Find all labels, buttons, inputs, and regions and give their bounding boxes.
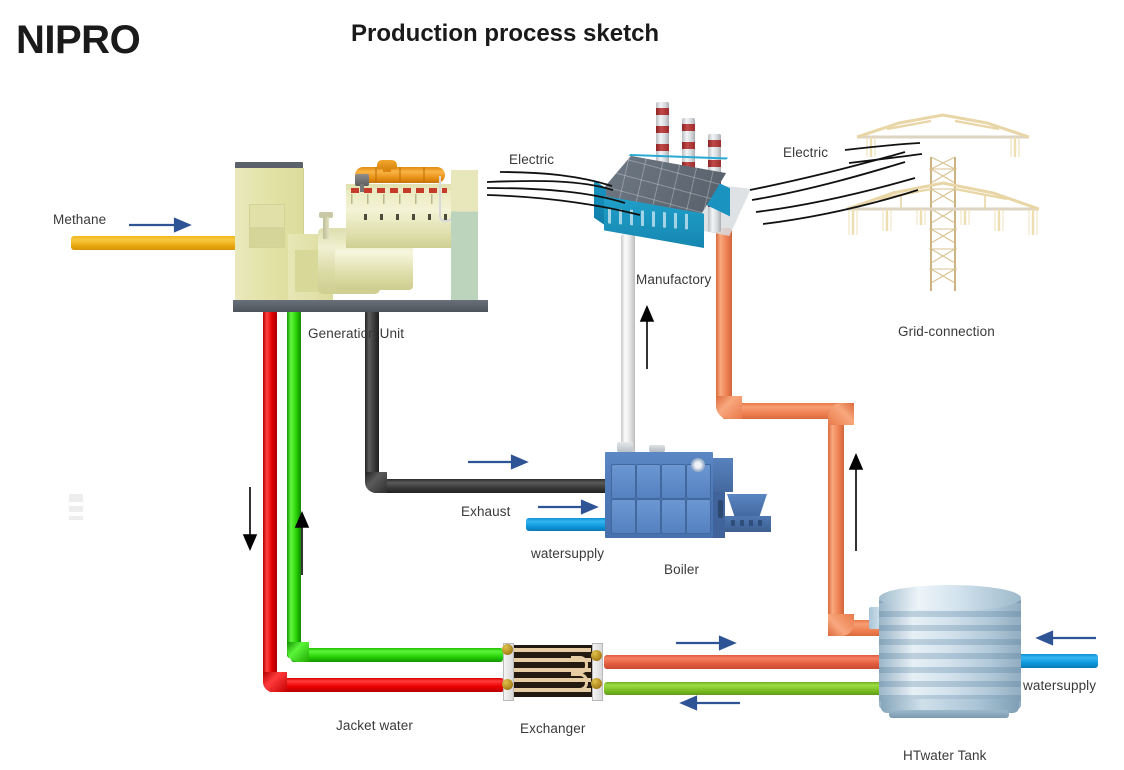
jacket-cold-pipe-vertical [287,310,301,658]
boiler-unit[interactable] [605,448,770,542]
ht-water-tank[interactable] [879,585,1021,721]
generation-unit-sensor-stem [360,184,364,192]
condensate-pipe-elbow-mid [828,403,854,425]
boiler-panel [636,499,661,534]
hot-water-flow-arrow [676,636,734,650]
jacket-hot-pipe-horizontal [268,678,504,692]
boiler-watersupply-flow-arrow [538,500,596,514]
label-exhaust: Exhaust [461,504,510,519]
boiler-vent-outlet [649,445,665,452]
steam-pipe [621,234,635,454]
generation-unit-cabinet-panel [249,204,285,248]
exchanger-tube-bend [571,656,588,674]
label-methane: Methane [53,212,106,227]
boiler-panel [661,464,686,499]
decorative-artifact [69,494,83,520]
return-water-flow-arrow [682,696,740,710]
boiler-panel [636,464,661,499]
exhaust-pipe-elbow [365,472,387,493]
grid-connection-pylon[interactable] [843,113,1043,293]
condensate-pipe-elbow-top [716,396,742,419]
label-electric-right: Electric [783,145,828,160]
company-logo: NIPRO [16,18,140,63]
label-generation-unit: Generation Unit [308,326,404,341]
condensate-up-flow-arrow [849,455,863,551]
exhaust-pipe-horizontal [372,479,617,493]
manifold-rib [399,167,401,183]
diagram-title: Production process sketch [351,20,659,48]
boiler-panel [686,499,711,534]
condensate-pipe-upper-vertical [716,228,732,410]
manifold-rib [375,167,377,183]
tank-top-lid [879,585,1021,611]
manufactory-building[interactable] [588,104,756,254]
label-watersupply-tank: watersupply [1023,678,1096,693]
boiler-panel [611,499,636,534]
jacket-cold-pipe-elbow [287,642,309,662]
label-electric-left: Electric [509,152,554,167]
return-water-pipe [604,682,896,695]
exchanger-tube-bend [571,673,588,691]
methane-pipe [71,236,237,250]
exchanger-bolt [502,679,513,690]
jacket-hot-pipe-vertical [263,310,277,685]
boiler-rear-upper [711,458,733,492]
exchanger-bolt [591,678,602,689]
tank-watersupply-flow-arrow [1038,631,1096,645]
manifold-cap [377,160,397,169]
condensate-pipe-lower-vertical [828,410,844,628]
tank-foot [889,710,1009,718]
manifold-rib [423,167,425,183]
label-boiler: Boiler [664,562,699,577]
boiler-panel [661,499,686,534]
generation-unit-pins [351,194,447,204]
label-watersupply-boiler: watersupply [531,546,604,561]
process-diagram-canvas: NIPRO Production process sketch [0,0,1124,770]
tank-body [879,597,1021,709]
boiler-steam-outlet [617,442,633,452]
heat-exchanger[interactable] [495,643,610,699]
generation-unit-vent [323,217,329,239]
boiler-panel [611,464,636,499]
generation-unit-bolts [351,214,447,220]
label-exchanger: Exchanger [520,721,585,736]
generation-unit-end-panel [451,170,478,300]
jacket-down-flow-arrow [243,487,257,549]
jacket-cold-pipe-horizontal [291,648,503,662]
label-htwater-tank: HTwater Tank [903,748,987,763]
boiler-handwheel-icon [691,458,705,472]
boiler-grate [731,520,765,526]
boiler-hopper [727,494,767,518]
label-grid-connection: Grid-connection [898,324,995,339]
exchanger-bolt [502,644,513,655]
exhaust-flow-arrow [468,455,526,469]
steam-up-flow-arrow [640,307,654,369]
generation-unit-header [351,188,447,193]
boiler-lever [718,500,723,518]
label-manufactory: Manufactory [636,272,711,287]
generation-unit-base [233,300,488,312]
methane-flow-arrow [129,218,189,232]
generation-unit[interactable] [233,162,488,312]
hot-water-pipe [604,655,896,669]
exchanger-bolt [591,650,602,661]
label-jacket-water: Jacket water [336,718,413,733]
jacket-up-flow-arrow [295,513,309,575]
jacket-hot-pipe-elbow [263,672,287,692]
